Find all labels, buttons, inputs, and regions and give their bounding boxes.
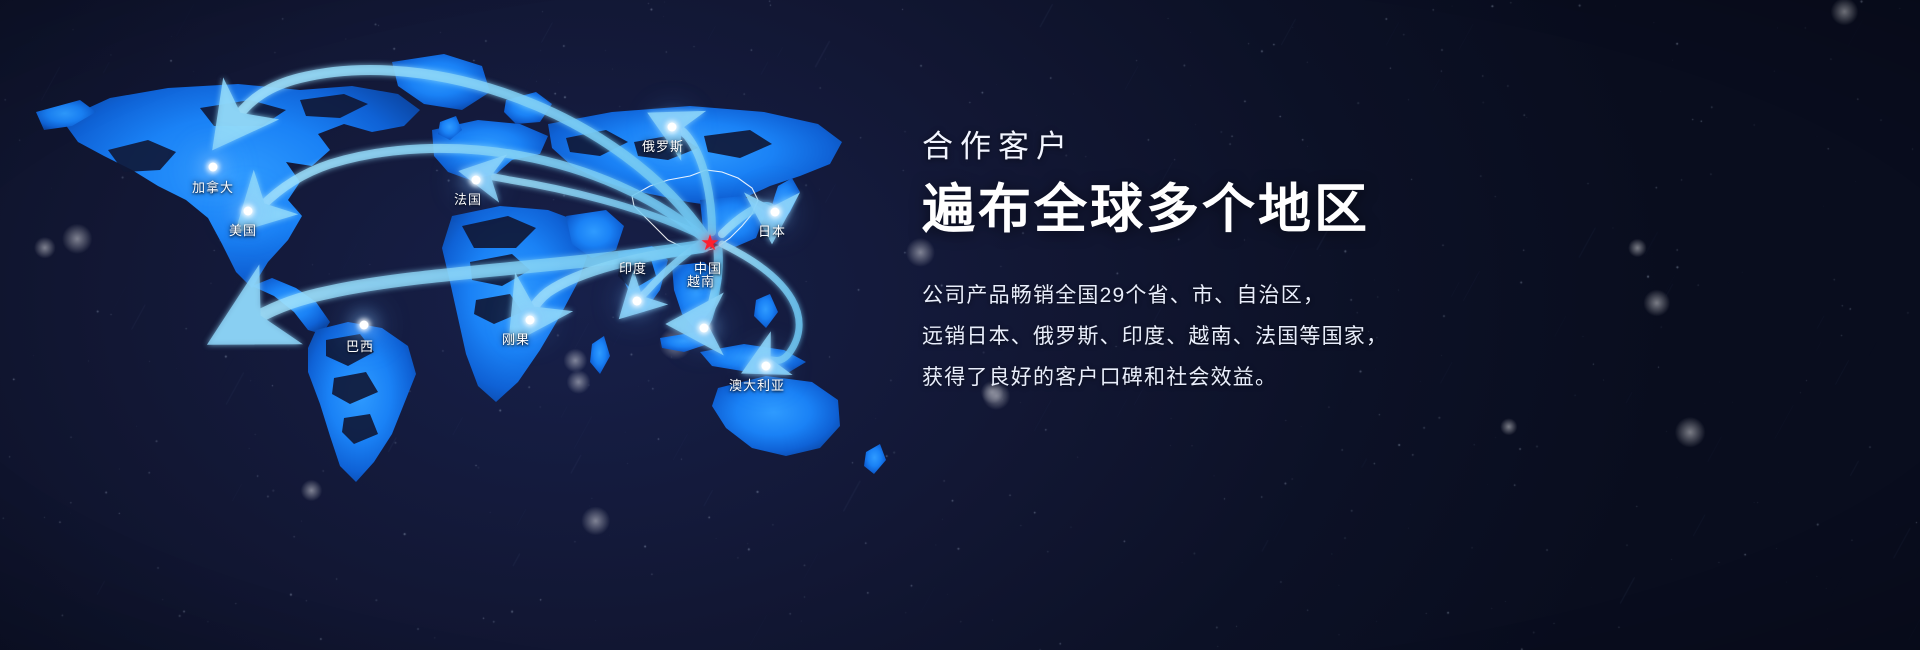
map-label-russia: 俄罗斯 (642, 136, 684, 155)
map-marker-brazil[interactable] (360, 321, 369, 330)
map-marker-canada[interactable] (209, 163, 218, 172)
description-line: 公司产品畅销全国29个省、市、自治区， (922, 275, 1682, 316)
map-marker-usa[interactable] (244, 207, 253, 216)
map-label-brazil: 巴西 (346, 336, 374, 355)
description-line: 获得了良好的客户口碑和社会效益。 (922, 357, 1682, 398)
map-marker-india[interactable] (633, 297, 642, 306)
map-label-australia: 澳大利亚 (729, 375, 785, 394)
eyebrow-title: 合作客户 (922, 128, 1682, 165)
description-line: 远销日本、俄罗斯、印度、越南、法国等国家， (922, 316, 1682, 357)
map-marker-congo[interactable] (526, 316, 535, 325)
description-paragraph: 公司产品畅销全国29个省、市、自治区，远销日本、俄罗斯、印度、越南、法国等国家，… (922, 275, 1682, 398)
copy-block: 合作客户 遍布全球多个地区 公司产品畅销全国29个省、市、自治区，远销日本、俄罗… (922, 128, 1682, 398)
map-marker-vietnam[interactable] (700, 324, 709, 333)
map-label-china: 中国 (694, 258, 722, 277)
global-customers-banner: 加拿大美国巴西刚果法国俄罗斯日本印度越南澳大利亚★中国 合作客户 遍布全球多个地… (0, 0, 1920, 650)
map-label-usa: 美国 (229, 220, 257, 239)
map-label-india: 印度 (619, 258, 647, 277)
world-map: 加拿大美国巴西刚果法国俄罗斯日本印度越南澳大利亚★中国 (0, 0, 960, 650)
map-label-france: 法国 (454, 189, 482, 208)
main-headline: 遍布全球多个地区 (922, 179, 1682, 240)
world-map-svg (0, 0, 960, 650)
map-marker-russia[interactable] (668, 123, 677, 132)
map-marker-australia[interactable] (762, 362, 771, 371)
map-label-congo: 刚果 (502, 329, 530, 348)
red-star-icon: ★ (700, 232, 720, 254)
map-marker-japan[interactable] (771, 208, 780, 217)
map-marker-france[interactable] (472, 176, 481, 185)
map-label-japan: 日本 (758, 221, 786, 240)
map-label-canada: 加拿大 (192, 177, 234, 196)
